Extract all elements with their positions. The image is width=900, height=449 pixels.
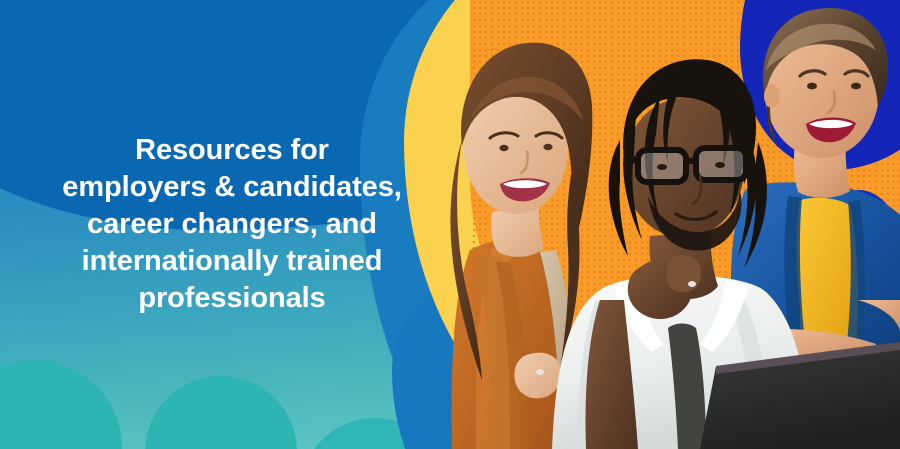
headline-container: Resources for employers & candidates, ca… — [12, 132, 452, 317]
hero-banner: Resources for employers & candidates, ca… — [0, 0, 900, 449]
banner-headline: Resources for employers & candidates, ca… — [12, 132, 452, 317]
